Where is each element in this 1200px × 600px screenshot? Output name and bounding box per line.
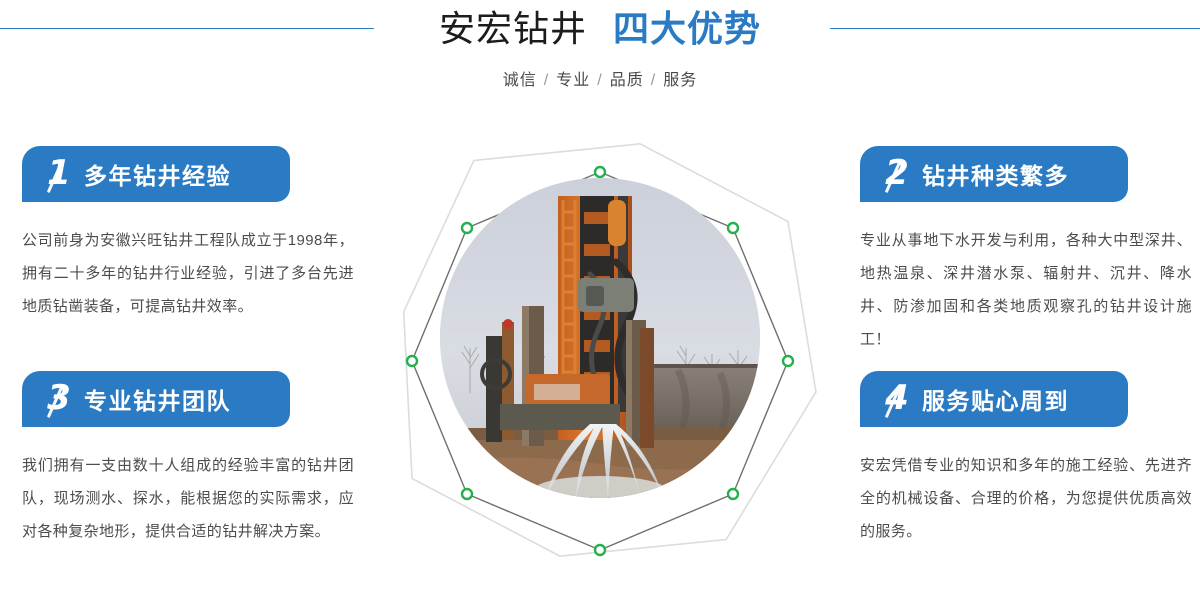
advantage-card-3: 3 专业钻井团队 我们拥有一支由数十人组成的经验丰富的钻井团队，现场测水、探水，… — [22, 371, 362, 548]
card-4-heading: 服务贴心周到 — [922, 382, 1069, 416]
page-subtitle: 诚信/专业/品质/服务 — [0, 66, 1200, 90]
card-3-body: 我们拥有一支由数十人组成的经验丰富的钻井团队，现场测水、探水，能根据您的实际需求… — [22, 449, 354, 548]
vertex-marker-left — [407, 356, 417, 366]
card-3-number-badge: 3 — [38, 381, 80, 415]
card-3-banner: 3 专业钻井团队 — [22, 371, 290, 427]
photo-truck-plate — [534, 384, 580, 400]
card-2-banner: 2 钻井种类繁多 — [860, 146, 1128, 202]
card-4-body: 安宏凭借专业的知识和多年的施工经验、先进齐全的机械设备、合理的价格，为您提供优质… — [860, 449, 1192, 548]
card-2-number-badge: 2 — [876, 156, 918, 190]
card-1-number-badge: 1 — [38, 156, 80, 190]
photo-crown-block — [608, 200, 626, 246]
card-1-banner: 1 多年钻井经验 — [22, 146, 290, 202]
advantages-page: 安宏钻井四大优势 诚信/专业/品质/服务 1 多年钻井经验 公司前身为安徽兴旺钻… — [0, 0, 1200, 600]
center-graphic — [370, 110, 830, 590]
drilling-rig-photo — [440, 178, 760, 498]
subtitle-separator-1: / — [590, 72, 609, 89]
card-2-heading: 钻井种类繁多 — [922, 157, 1069, 191]
subtitle-item-0: 诚信 — [503, 72, 537, 89]
advantage-card-2: 2 钻井种类繁多 专业从事地下水开发与利用，各种大中型深井、地热温泉、深井潜水泵… — [860, 146, 1200, 356]
title-company: 安宏钻井 — [439, 8, 587, 49]
subtitle-item-2: 品质 — [610, 72, 644, 89]
advantage-card-4: 4 服务贴心周到 安宏凭借专业的知识和多年的施工经验、先进齐全的机械设备、合理的… — [860, 371, 1200, 548]
subtitle-item-3: 服务 — [663, 72, 697, 89]
advantage-card-1: 1 多年钻井经验 公司前身为安徽兴旺钻井工程队成立于1998年，拥有二十多年的钻… — [22, 146, 362, 323]
card-4-number-badge: 4 — [876, 381, 918, 415]
subtitle-separator-0: / — [537, 72, 556, 89]
drilling-rig-illustration — [440, 178, 760, 498]
card-4-banner: 4 服务贴心周到 — [860, 371, 1128, 427]
vertex-marker-right — [783, 356, 793, 366]
card-3-heading: 专业钻井团队 — [84, 382, 231, 416]
subtitle-item-1: 专业 — [556, 72, 590, 89]
photo-machinery-detail — [586, 286, 604, 306]
page-title: 安宏钻井四大优势 — [0, 11, 1200, 47]
card-1-heading: 多年钻井经验 — [84, 157, 231, 191]
title-highlight: 四大优势 — [613, 8, 761, 49]
vertex-marker-bottom — [595, 545, 605, 555]
page-header: 安宏钻井四大优势 诚信/专业/品质/服务 — [0, 0, 1200, 110]
card-1-body: 公司前身为安徽兴旺钻井工程队成立于1998年，拥有二十多年的钻井行业经验，引进了… — [22, 224, 354, 323]
subtitle-separator-2: / — [644, 72, 663, 89]
vertex-marker-top — [595, 167, 605, 177]
photo-support-legs-right — [626, 320, 654, 448]
card-2-body: 专业从事地下水开发与利用，各种大中型深井、地热温泉、深井潜水泵、辐射井、沉井、降… — [860, 224, 1192, 356]
